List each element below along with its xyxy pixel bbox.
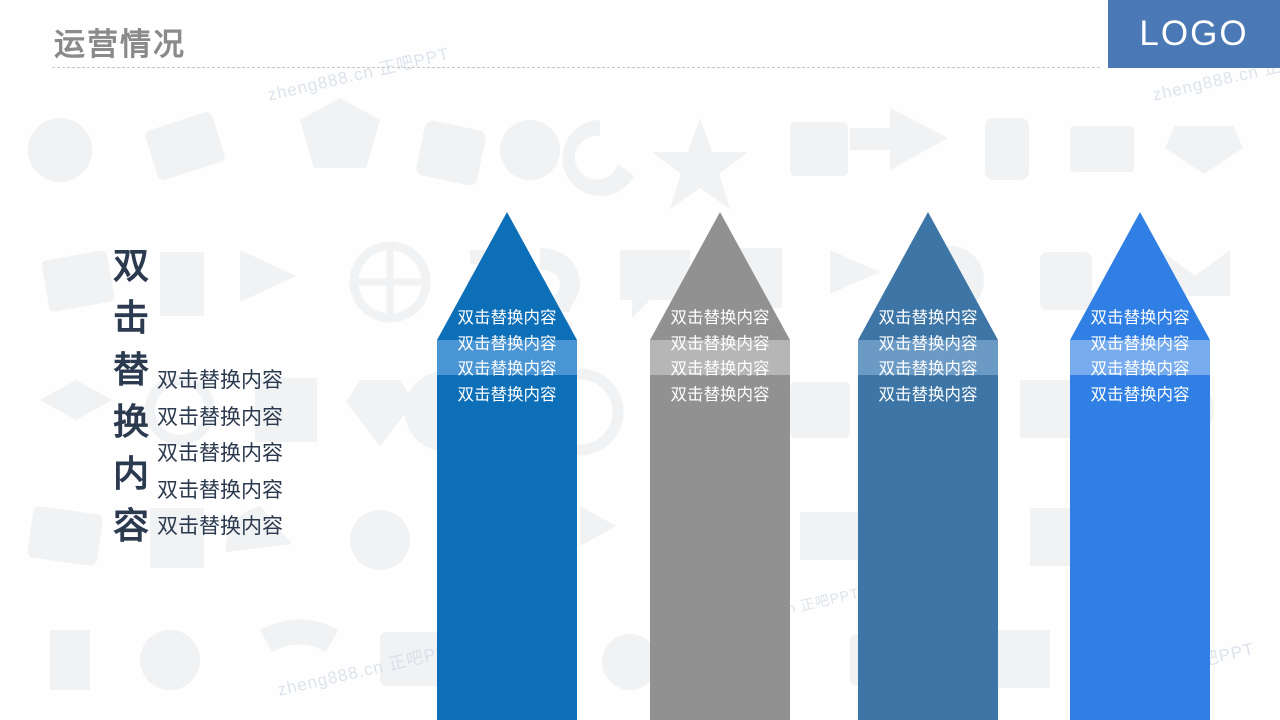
pencil-line: 双击替换内容 bbox=[650, 382, 790, 408]
pencil-line: 双击替换内容 bbox=[858, 331, 998, 357]
list-item: 双击替换内容 bbox=[157, 508, 283, 545]
pencil-line: 双击替换内容 bbox=[858, 382, 998, 408]
pencil-body bbox=[858, 375, 998, 720]
header-divider bbox=[52, 67, 1100, 68]
pencil-line: 双击替换内容 bbox=[650, 331, 790, 357]
logo-badge: LOGO bbox=[1108, 0, 1280, 68]
pencil-text-block: 双击替换内容 双击替换内容 双击替换内容 双击替换内容 bbox=[1070, 305, 1210, 407]
pencil-line: 双击替换内容 bbox=[650, 305, 790, 331]
slide-canvas: zheng888.cn 正吧PPT zheng888.cn 正吧PPT zhen… bbox=[0, 0, 1280, 720]
page-title: 运营情况 bbox=[54, 19, 186, 64]
pencil-line: 双击替换内容 bbox=[437, 356, 577, 382]
logo-label: LOGO bbox=[1139, 14, 1248, 54]
pencil-line: 双击替换内容 bbox=[858, 305, 998, 331]
section-heading: 双击替换内容 bbox=[113, 237, 150, 549]
pencil-column-4[interactable]: 双击替换内容 双击替换内容 双击替换内容 双击替换内容 bbox=[1070, 212, 1210, 720]
pencil-text-block: 双击替换内容 双击替换内容 双击替换内容 双击替换内容 bbox=[858, 305, 998, 407]
list-item: 双击替换内容 bbox=[157, 399, 283, 436]
pencil-column-3[interactable]: 双击替换内容 双击替换内容 双击替换内容 双击替换内容 bbox=[858, 212, 998, 720]
list-item: 双击替换内容 bbox=[157, 472, 283, 509]
pencil-text-block: 双击替换内容 双击替换内容 双击替换内容 双击替换内容 bbox=[650, 305, 790, 407]
pencil-line: 双击替换内容 bbox=[1070, 331, 1210, 357]
watermark-text: zheng888.cn 正吧PPT bbox=[275, 634, 462, 700]
pencil-line: 双击替换内容 bbox=[1070, 305, 1210, 331]
pencil-line: 双击替换内容 bbox=[437, 331, 577, 357]
list-item: 双击替换内容 bbox=[157, 435, 283, 472]
pencil-body bbox=[650, 375, 790, 720]
pencil-line: 双击替换内容 bbox=[437, 382, 577, 408]
pencil-body bbox=[437, 375, 577, 720]
bullet-list: 双击替换内容 双击替换内容 双击替换内容 双击替换内容 双击替换内容 bbox=[157, 362, 283, 545]
list-item: 双击替换内容 bbox=[157, 362, 283, 399]
pencil-line: 双击替换内容 bbox=[437, 305, 577, 331]
pencil-line: 双击替换内容 bbox=[858, 356, 998, 382]
slide-header: 运营情况 LOGO bbox=[0, 0, 1280, 70]
pencil-line: 双击替换内容 bbox=[1070, 356, 1210, 382]
pencil-column-2[interactable]: 双击替换内容 双击替换内容 双击替换内容 双击替换内容 bbox=[650, 212, 790, 720]
pencil-column-1[interactable]: 双击替换内容 双击替换内容 双击替换内容 双击替换内容 bbox=[437, 212, 577, 720]
pencil-line: 双击替换内容 bbox=[650, 356, 790, 382]
pencil-line: 双击替换内容 bbox=[1070, 382, 1210, 408]
pencil-body bbox=[1070, 375, 1210, 720]
pencil-text-block: 双击替换内容 双击替换内容 双击替换内容 双击替换内容 bbox=[437, 305, 577, 407]
